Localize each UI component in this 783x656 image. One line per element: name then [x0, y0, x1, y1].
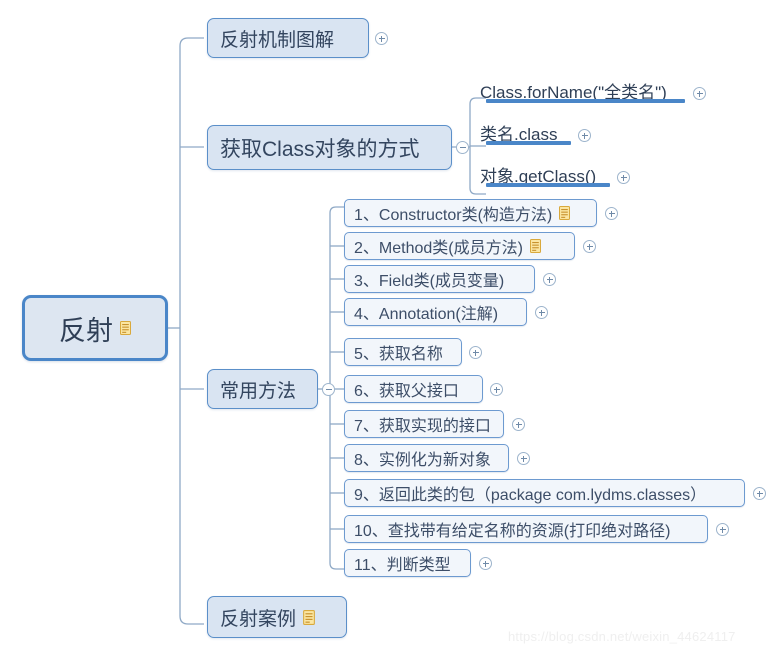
method-11[interactable]: 11、判断类型: [344, 549, 471, 577]
collapse-get-class-object[interactable]: [456, 141, 469, 154]
method-label: 8、实例化为新对象: [354, 446, 491, 470]
method-6[interactable]: 6、获取父接口: [344, 375, 483, 403]
expander-classname-class[interactable]: [578, 129, 591, 142]
branch-common-methods[interactable]: 常用方法: [207, 369, 318, 409]
method-label: 7、获取实现的接口: [354, 412, 491, 436]
expander-method-5[interactable]: [469, 346, 482, 359]
expander-class-forname[interactable]: [693, 87, 706, 100]
expander-reflection-diagram[interactable]: [375, 32, 388, 45]
root-label: 反射: [59, 309, 113, 348]
branch-reflection-diagram[interactable]: 反射机制图解: [207, 18, 369, 58]
method-2[interactable]: 2、Method类(成员方法): [344, 232, 575, 260]
branch-reflection-case[interactable]: 反射案例: [207, 596, 347, 638]
root-node[interactable]: 反射: [22, 295, 168, 361]
mindmap-canvas: 反射 反射机制图解 获取Class对象的方式 Class.forName("全类…: [0, 0, 783, 656]
expander-method-3[interactable]: [543, 273, 556, 286]
method-label: 3、Field类(成员变量): [354, 267, 504, 291]
method-label: 11、判断类型: [354, 551, 451, 575]
expander-method-1[interactable]: [605, 207, 618, 220]
note-icon[interactable]: [303, 610, 314, 624]
method-label: 4、Annotation(注解): [354, 300, 498, 324]
note-icon[interactable]: [559, 206, 570, 220]
method-label: 6、获取父接口: [354, 377, 459, 401]
expander-method-11[interactable]: [479, 557, 492, 570]
method-label: 5、获取名称: [354, 340, 443, 364]
expander-method-4[interactable]: [535, 306, 548, 319]
collapse-common-methods[interactable]: [322, 383, 335, 396]
method-10[interactable]: 10、查找带有给定名称的资源(打印绝对路径): [344, 515, 708, 543]
note-icon[interactable]: [530, 239, 541, 253]
method-4[interactable]: 4、Annotation(注解): [344, 298, 527, 326]
method-label: 9、返回此类的包（package com.lydms.classes）: [354, 481, 706, 505]
method-1[interactable]: 1、Constructor类(构造方法): [344, 199, 597, 227]
method-8[interactable]: 8、实例化为新对象: [344, 444, 509, 472]
watermark: https://blog.csdn.net/weixin_44624117: [508, 629, 736, 644]
note-icon[interactable]: [120, 321, 131, 335]
expander-method-9[interactable]: [753, 487, 766, 500]
method-9[interactable]: 9、返回此类的包（package com.lydms.classes）: [344, 479, 745, 507]
method-label: 10、查找带有给定名称的资源(打印绝对路径): [354, 517, 670, 541]
method-3[interactable]: 3、Field类(成员变量): [344, 265, 535, 293]
branch-get-class-object[interactable]: 获取Class对象的方式: [207, 125, 452, 170]
expander-object-getclass[interactable]: [617, 171, 630, 184]
method-label: 1、Constructor类(构造方法): [354, 201, 552, 225]
expander-method-10[interactable]: [716, 523, 729, 536]
expander-method-7[interactable]: [512, 418, 525, 431]
branch-label: 获取Class对象的方式: [220, 133, 420, 163]
method-label: 2、Method类(成员方法): [354, 234, 523, 258]
underline-bar-object-getclass: [486, 183, 610, 187]
expander-method-6[interactable]: [490, 383, 503, 396]
method-7[interactable]: 7、获取实现的接口: [344, 410, 504, 438]
branch-label: 反射机制图解: [220, 25, 334, 52]
expander-method-8[interactable]: [517, 452, 530, 465]
method-5[interactable]: 5、获取名称: [344, 338, 462, 366]
branch-label: 常用方法: [220, 376, 296, 403]
underline-bar-class-forname: [486, 99, 685, 103]
underline-bar-classname-class: [486, 141, 571, 145]
branch-label: 反射案例: [220, 604, 296, 631]
expander-method-2[interactable]: [583, 240, 596, 253]
